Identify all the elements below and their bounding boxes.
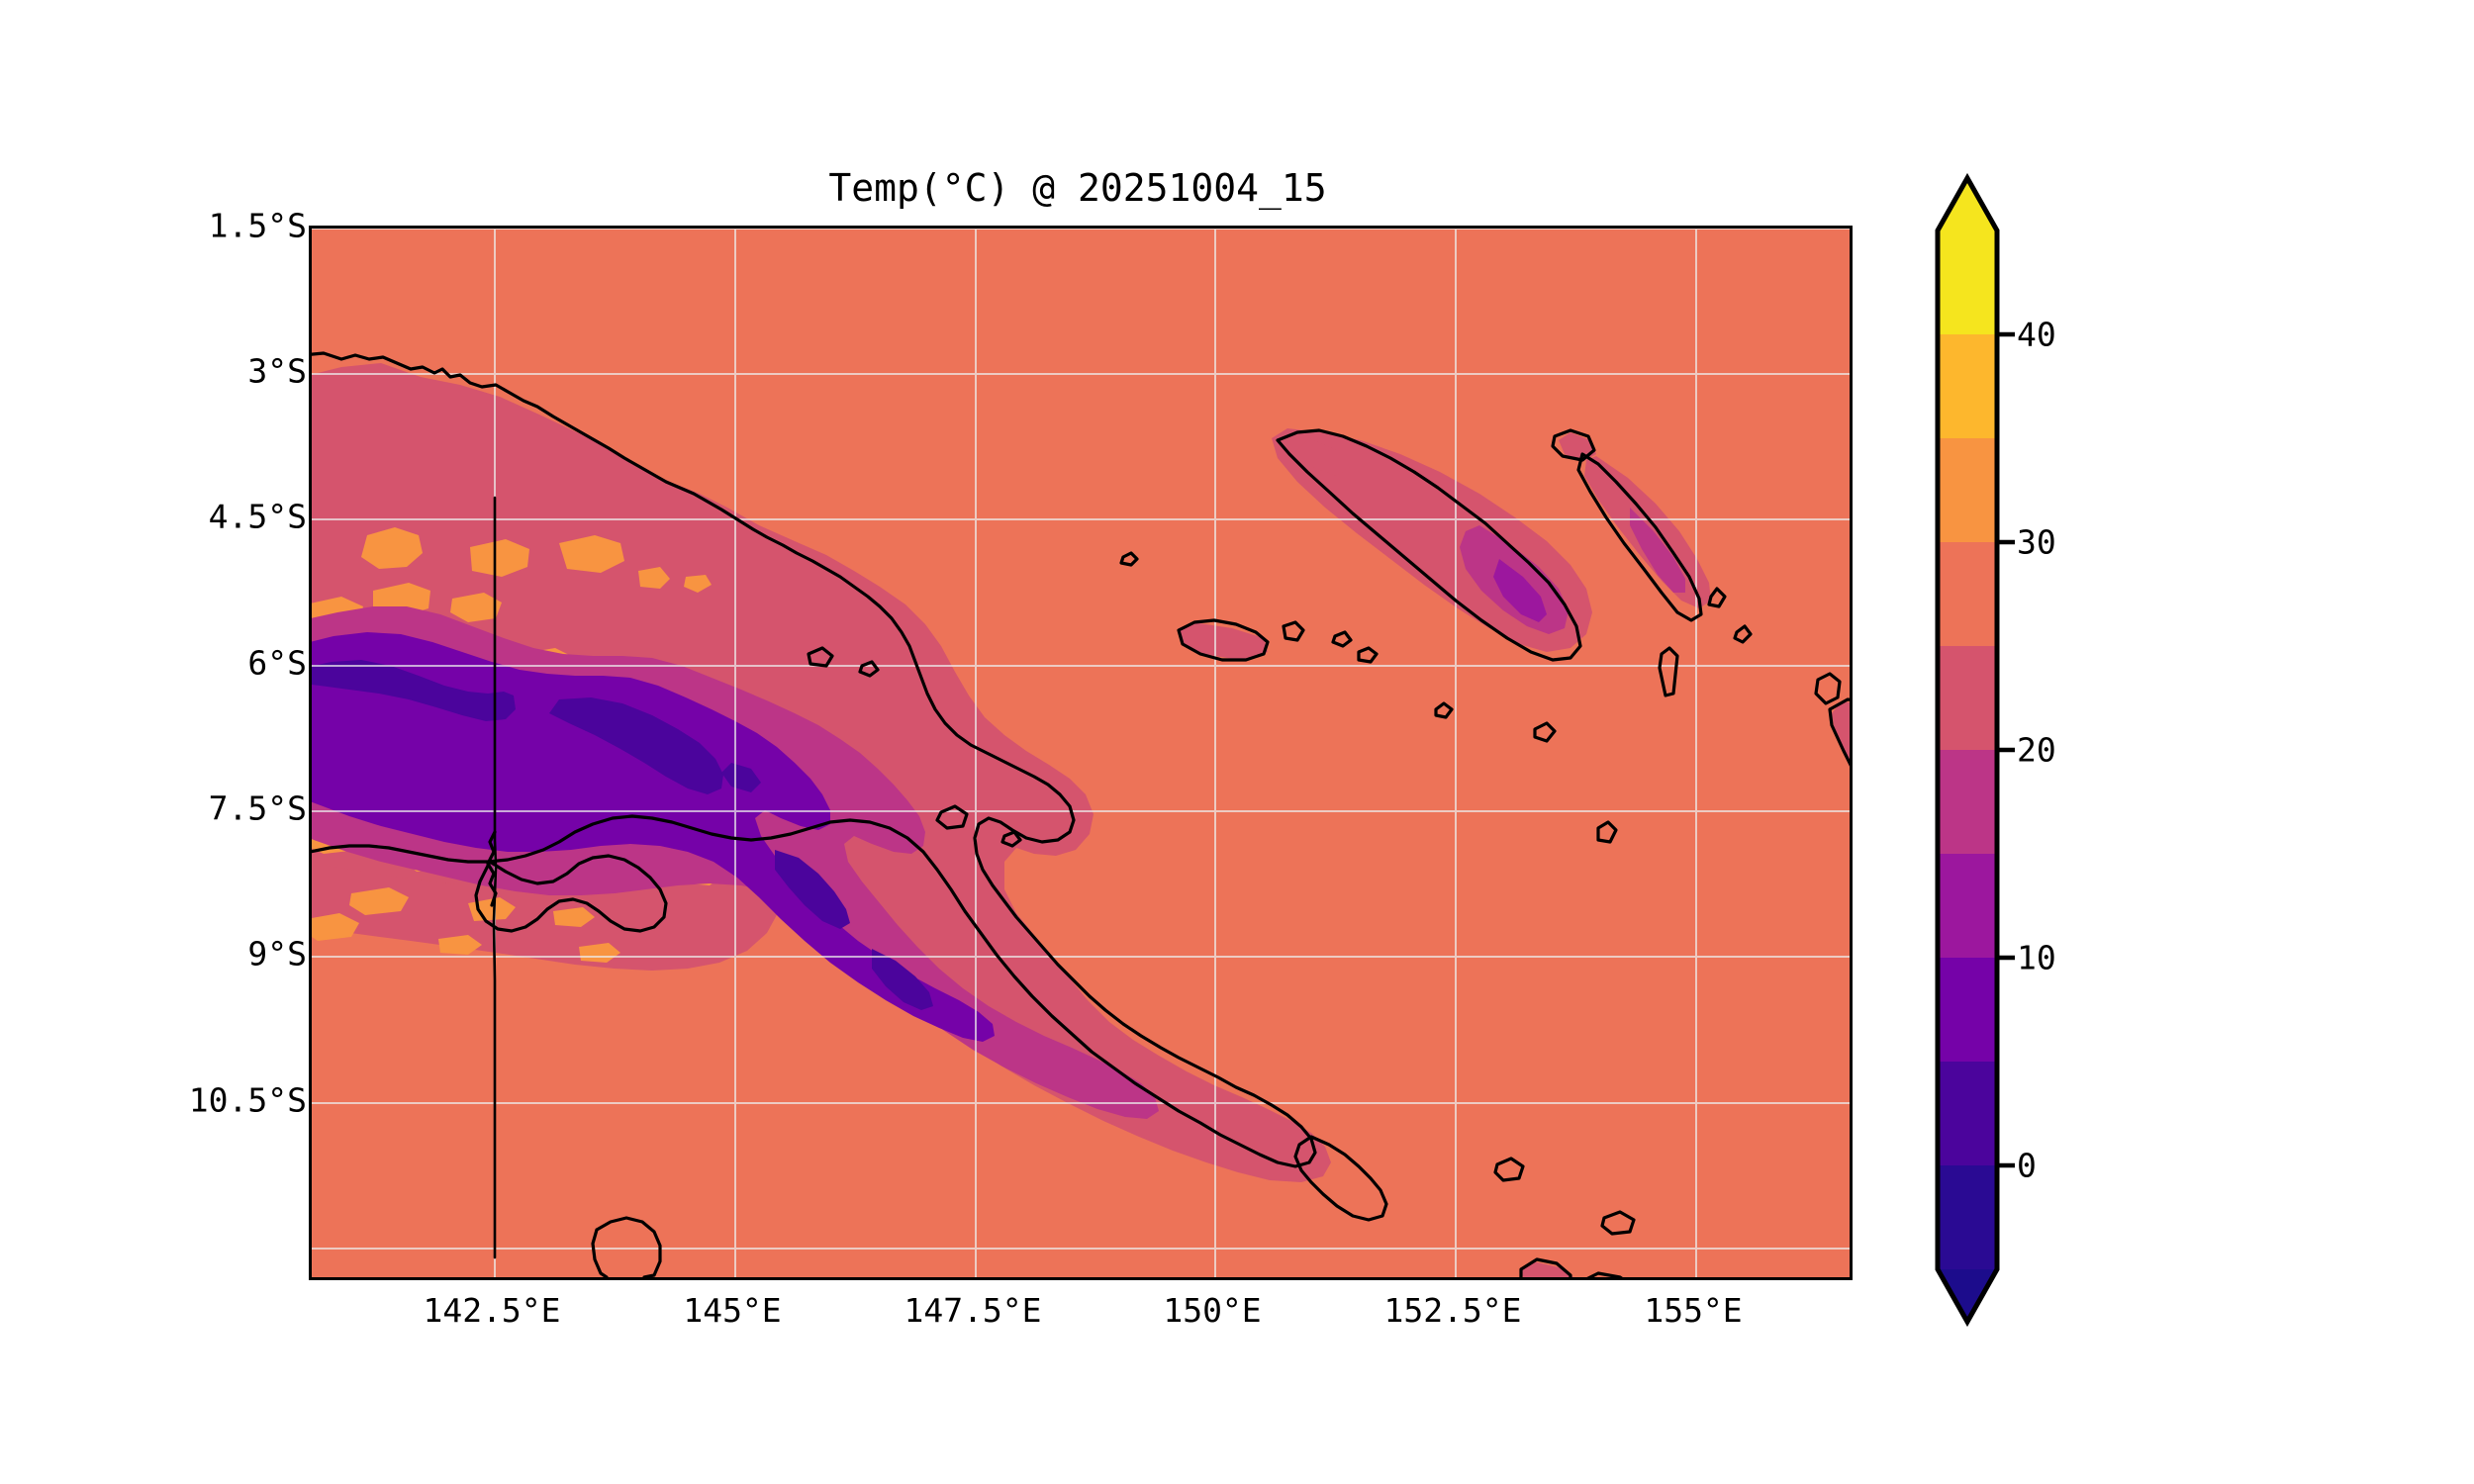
title-line-1: Temp(°C) @ 20251004_15 [309, 167, 1847, 210]
xtick-label-5: 152.5°E [1383, 1291, 1521, 1330]
cb-band-5-10 [1938, 958, 1997, 1063]
xtick-label-4: 150°E [1163, 1291, 1261, 1330]
cb-band-40-45 [1938, 231, 1997, 335]
cb-extend-under-arrow [1938, 1269, 1997, 1322]
cb-band-10-15 [1938, 854, 1997, 959]
ytick-label-3: 4.5°S [209, 498, 307, 536]
cb-band-35-40 [1938, 334, 1997, 439]
matplotlib-figure: Temp(°C) @ 20251004_15 Simulation Time: … [0, 0, 2474, 1484]
xtick-label-2: 145°E [683, 1291, 781, 1330]
xtick-label-1: 142.5°E [423, 1291, 560, 1330]
map-plot-area[interactable] [309, 226, 1853, 1280]
ytick-label-5: 7.5°S [209, 789, 307, 828]
cb-band-20-25 [1938, 646, 1997, 751]
temperature-contour-map [312, 229, 1850, 1277]
xtick-label-3: 147.5°E [904, 1291, 1041, 1330]
ytick-label-6: 9°S [247, 935, 307, 974]
cb-extend-over-arrow [1938, 178, 1997, 231]
cb-band-15-20 [1938, 750, 1997, 855]
colorbar-gradient [1932, 168, 2229, 1336]
ytick-label-7: 10.5°S [189, 1081, 307, 1120]
cb-band-minus5-0 [1938, 1165, 1997, 1270]
cb-band-25-30 [1938, 542, 1997, 647]
cb-band-0-5 [1938, 1062, 1997, 1166]
colorbar-bands [1938, 231, 1997, 1270]
cb-tick-label-30: 30 [2017, 523, 2056, 562]
cb-tick-label-10: 10 [2017, 939, 2056, 977]
cb-ticks [1997, 334, 2015, 1165]
ytick-label-2: 3°S [247, 352, 307, 391]
cb-band-30-35 [1938, 438, 1997, 543]
cb-tick-label-0: 0 [2017, 1147, 2037, 1185]
cb-tick-label-20: 20 [2017, 731, 2056, 770]
colorbar[interactable]: 40 30 20 10 0 [1932, 168, 2229, 1336]
cb-tick-label-40: 40 [2017, 316, 2056, 354]
ytick-label-1: 1.5°S [209, 207, 307, 245]
ytick-label-4: 6°S [247, 644, 307, 683]
xtick-label-6: 155°E [1644, 1291, 1742, 1330]
